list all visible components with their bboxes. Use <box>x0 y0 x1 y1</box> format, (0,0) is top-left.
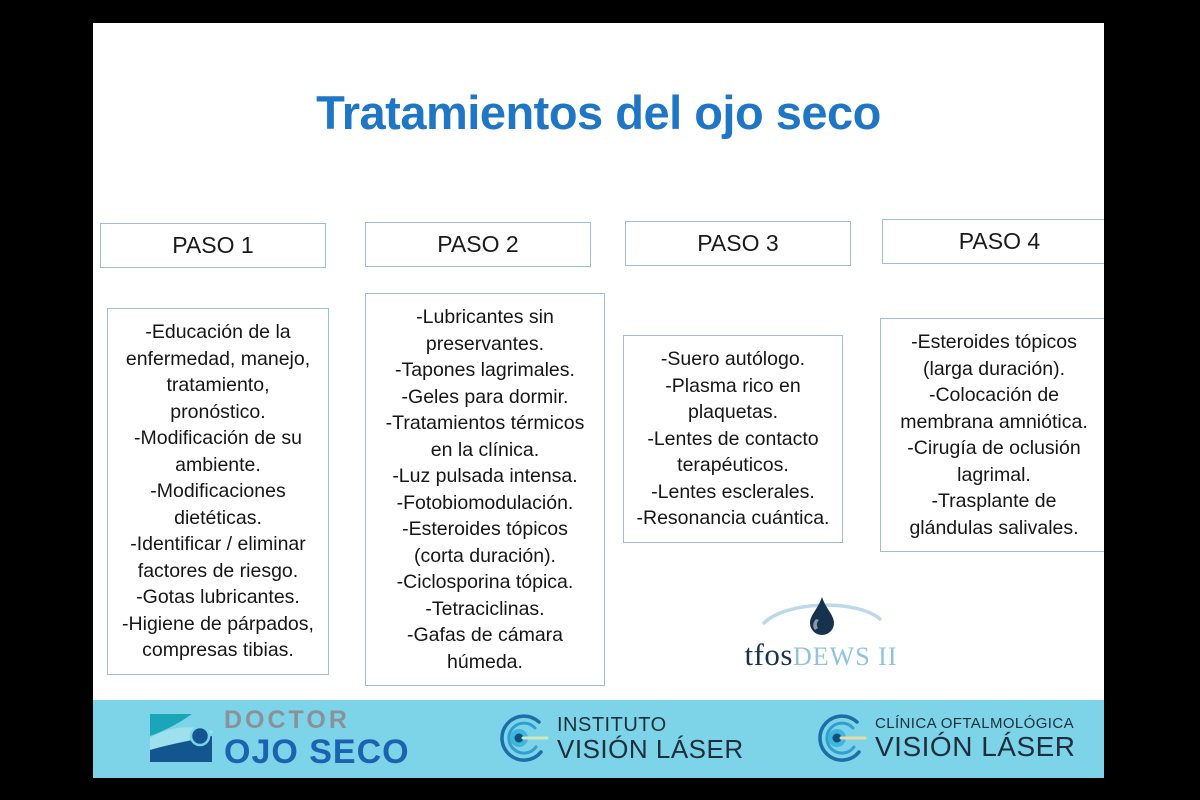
step-line: -Cirugía de oclusión <box>887 435 1101 462</box>
step-header-label-4: PASO 4 <box>959 228 1040 255</box>
clinica-wordmark: CLÍNICA OFTALMOLÓGICA VISIÓN LÁSER <box>875 716 1076 761</box>
step-line: preservantes. <box>372 331 598 358</box>
step-line: ambiente. <box>114 452 322 479</box>
teardrop-swoosh-icon <box>756 593 886 639</box>
step-line: -Trasplante de <box>887 488 1101 515</box>
step-line: -Modificación de su <box>114 425 322 452</box>
step-header-label-2: PASO 2 <box>437 231 518 258</box>
step-line: (corta duración). <box>372 543 598 570</box>
logo-line-1: INSTITUTO <box>557 715 744 736</box>
step-header-label-3: PASO 3 <box>697 230 778 257</box>
step-line: -Esteroides tópicos <box>372 516 598 543</box>
step-line: glándulas salivales. <box>887 515 1101 542</box>
step-header-4: PASO 4 <box>882 219 1104 264</box>
step-line: -Lubricantes sin <box>372 304 598 331</box>
step-line: -Colocación de <box>887 382 1101 409</box>
footer-logo-band: DOCTOR OJO SECO INSTITUTO VISIÓN LÁSER <box>93 700 1104 778</box>
tfos-primary-text: tfos <box>745 637 794 672</box>
step-line: -Educación de la <box>114 319 322 346</box>
step-line: en la clínica. <box>372 437 598 464</box>
step-line: (larga duración). <box>887 356 1101 383</box>
step-line: húmeda. <box>372 649 598 676</box>
step-line: -Geles para dormir. <box>372 384 598 411</box>
step-line: -Gotas lubricantes. <box>114 584 322 611</box>
presentation-viewport: Tratamientos del ojo seco PASO 1 -Educac… <box>0 0 1200 800</box>
step-line: -Lentes esclerales. <box>630 479 836 506</box>
step-line: plaquetas. <box>630 399 836 426</box>
step-line: factores de riesgo. <box>114 558 322 585</box>
step-line: -Identificar / eliminar <box>114 531 322 558</box>
step-line: -Suero autólogo. <box>630 346 836 373</box>
step-content-box-3: -Suero autólogo. -Plasma rico en plaquet… <box>623 335 843 543</box>
step-line: pronóstico. <box>114 399 322 426</box>
step-line: terapéuticos. <box>630 452 836 479</box>
step-header-2: PASO 2 <box>365 222 591 267</box>
tfos-secondary-text: DEWS II <box>793 642 897 671</box>
logo-line-1: DOCTOR <box>224 708 410 733</box>
logo-clinica-oftalmologica-vision-laser: CLÍNICA OFTALMOLÓGICA VISIÓN LÁSER <box>811 712 1076 766</box>
step-line: enfermedad, manejo, <box>114 346 322 373</box>
step-header-1: PASO 1 <box>100 223 326 268</box>
step-line: tratamiento, <box>114 372 322 399</box>
logo-doctor-ojo-seco: DOCTOR OJO SECO <box>148 708 410 769</box>
step-line: dietéticas. <box>114 505 322 532</box>
step-line: -Fotobiomodulación. <box>372 490 598 517</box>
step-line: -Tetraciclinas. <box>372 596 598 623</box>
tfos-dews-logo: tfosDEWS II <box>731 593 911 678</box>
step-header-3: PASO 3 <box>625 221 851 266</box>
step-line: -Luz pulsada intensa. <box>372 463 598 490</box>
step-line: lagrimal. <box>887 462 1101 489</box>
step-line: -Ciclosporina tópica. <box>372 569 598 596</box>
step-line: -Plasma rico en <box>630 373 836 400</box>
tfos-wordmark: tfosDEWS II <box>745 637 898 673</box>
step-content-box-4: -Esteroides tópicos (larga duración). -C… <box>880 318 1104 552</box>
logo-instituto-vision-laser: INSTITUTO VISIÓN LÁSER <box>493 712 744 766</box>
doctor-ojo-seco-wordmark: DOCTOR OJO SECO <box>224 708 410 769</box>
instituto-wordmark: INSTITUTO VISIÓN LÁSER <box>557 715 744 763</box>
step-line: -Higiene de párpados, <box>114 611 322 638</box>
step-line: -Esteroides tópicos <box>887 329 1101 356</box>
slide-title: Tratamientos del ojo seco <box>93 85 1104 140</box>
logo-line-2: VISIÓN LÁSER <box>875 732 1076 761</box>
logo-line-2: OJO SECO <box>224 735 410 769</box>
eye-logo-icon <box>148 710 220 768</box>
logo-line-2: VISIÓN LÁSER <box>557 736 744 763</box>
step-content-box-1: -Educación de la enfermedad, manejo, tra… <box>107 308 329 675</box>
spiral-eye-icon <box>811 712 869 766</box>
step-line: membrana amniótica. <box>887 409 1101 436</box>
step-line: -Resonancia cuántica. <box>630 505 836 532</box>
logo-line-1: CLÍNICA OFTALMOLÓGICA <box>875 716 1076 732</box>
spiral-eye-icon <box>493 712 551 766</box>
slide-canvas: Tratamientos del ojo seco PASO 1 -Educac… <box>93 23 1104 778</box>
step-line: -Gafas de cámara <box>372 622 598 649</box>
step-line: -Lentes de contacto <box>630 426 836 453</box>
step-line: -Modificaciones <box>114 478 322 505</box>
step-line: -Tratamientos térmicos <box>372 410 598 437</box>
step-header-label-1: PASO 1 <box>172 232 253 259</box>
step-line: -Tapones lagrimales. <box>372 357 598 384</box>
step-content-box-2: -Lubricantes sin preservantes. -Tapones … <box>365 293 605 686</box>
step-line: compresas tibias. <box>114 637 322 664</box>
